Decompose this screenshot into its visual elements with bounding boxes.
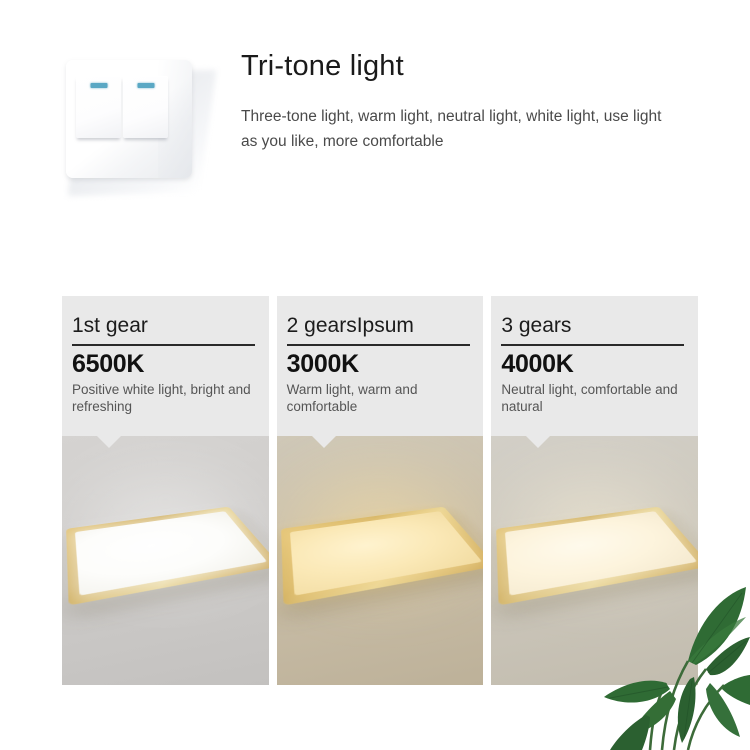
- panel-header: 2 gearsIpsum 3000K Warm light, warm and …: [277, 296, 484, 436]
- gear-label: 2 gearsIpsum: [287, 314, 474, 338]
- panel-description: Neutral light, comfortable and natural: [501, 381, 688, 416]
- wall-switch-illustration: [58, 50, 223, 200]
- page-subtitle: Three-tone light, warm light, neutral li…: [241, 104, 681, 154]
- kelvin-value: 6500K: [72, 350, 259, 379]
- panel-1st-gear: 1st gear 6500K Positive white light, bri…: [62, 296, 269, 685]
- panel-description: Warm light, warm and comfortable: [287, 381, 474, 416]
- pointer-triangle-icon: [311, 435, 337, 448]
- panel-2-gears: 2 gearsIpsum 3000K Warm light, warm and …: [277, 296, 484, 685]
- panel-photo: [491, 436, 698, 685]
- divider-rule: [287, 344, 470, 346]
- switch-rocker-right: [123, 76, 168, 138]
- switch-rocker-group: [76, 76, 168, 138]
- pointer-triangle-icon: [525, 435, 551, 448]
- panel-3-gears: 3 gears 4000K Neutral light, comfortable…: [491, 296, 698, 685]
- page-title: Tri-tone light: [241, 50, 404, 83]
- panel-header: 3 gears 4000K Neutral light, comfortable…: [491, 296, 698, 436]
- panel-description: Positive white light, bright and refresh…: [72, 381, 259, 416]
- gear-label: 1st gear: [72, 314, 259, 338]
- panel-photo: [277, 436, 484, 685]
- panel-header: 1st gear 6500K Positive white light, bri…: [62, 296, 269, 436]
- kelvin-value: 3000K: [287, 350, 474, 379]
- divider-rule: [501, 344, 684, 346]
- kelvin-value: 4000K: [501, 350, 688, 379]
- gear-label: 3 gears: [501, 314, 688, 338]
- led-indicator-icon: [90, 83, 107, 88]
- light-mode-panels: 1st gear 6500K Positive white light, bri…: [62, 296, 698, 685]
- pointer-triangle-icon: [96, 435, 122, 448]
- led-indicator-icon: [137, 83, 154, 88]
- panel-photo: [62, 436, 269, 685]
- header-section: Tri-tone light Three-tone light, warm li…: [0, 0, 750, 230]
- divider-rule: [72, 344, 255, 346]
- switch-rocker-left: [76, 76, 121, 138]
